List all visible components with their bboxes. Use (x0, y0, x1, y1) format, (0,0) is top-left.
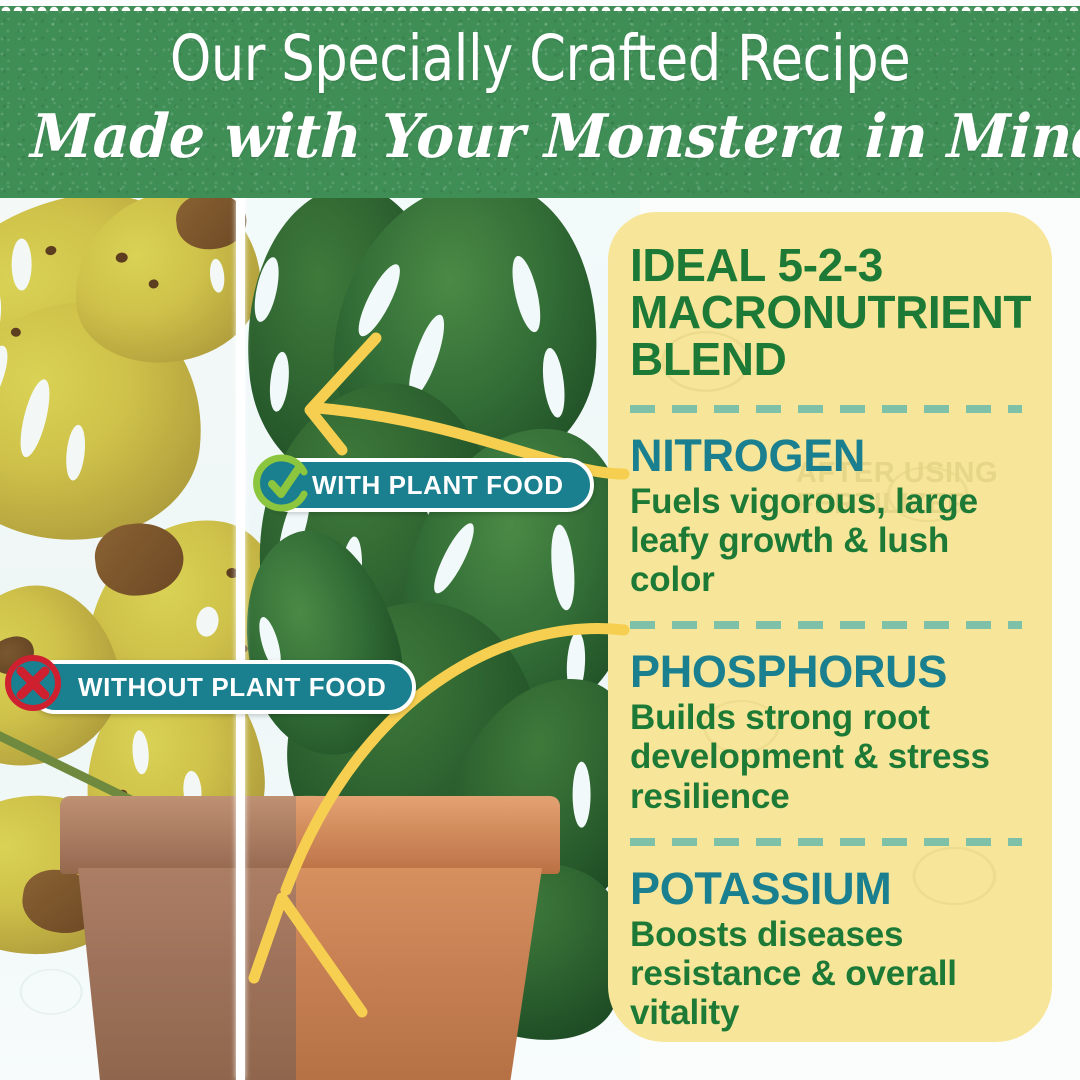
x-circle-icon (2, 652, 64, 714)
pot-body-right (296, 868, 542, 1080)
divider-1 (630, 405, 1022, 413)
with-plant-food-label: WITH PLANT FOOD (312, 470, 564, 501)
pot-rim-right (296, 796, 560, 874)
nutrient-name-phosphorus: PHOSPHORUS (630, 649, 1034, 694)
plant-comparison-photo (0, 198, 640, 1080)
terracotta-pot (60, 796, 560, 1080)
before-after-divider (236, 198, 245, 1080)
nutrient-desc-phosphorus: Builds strong root development & stress … (630, 698, 1034, 816)
infographic-canvas: Our Specially Crafted Recipe Made with Y… (0, 0, 1080, 1080)
nutrient-name-potassium: POTASSIUM (630, 866, 1034, 911)
divider-2 (630, 621, 1022, 629)
nutrient-desc-potassium: Boosts diseases resistance & overall vit… (630, 915, 1034, 1033)
nutrient-name-nitrogen: NITROGEN (630, 433, 1034, 478)
without-plant-food-label: WITHOUT PLANT FOOD (78, 672, 386, 703)
header-title-line2: Made with Your Monstera in Mind (29, 102, 1048, 172)
nutrient-desc-nitrogen: Fuels vigorous, large leafy growth & lus… (630, 482, 1034, 600)
pot-rim-left (60, 796, 296, 874)
check-circle-icon (252, 452, 314, 514)
pot-body-left (78, 868, 296, 1080)
nutrient-info-card: AFTER USING FERTILIZER IDEAL 5-2-3 MACRO… (608, 212, 1052, 1042)
divider-3 (630, 838, 1022, 846)
without-plant-food-badge[interactable]: WITHOUT PLANT FOOD (28, 660, 416, 714)
header-banner: Our Specially Crafted Recipe Made with Y… (0, 6, 1080, 198)
card-kicker-title: IDEAL 5-2-3 MACRONUTRIENT BLEND (630, 242, 1034, 383)
header-title-line1: Our Specially Crafted Recipe (38, 22, 1042, 95)
